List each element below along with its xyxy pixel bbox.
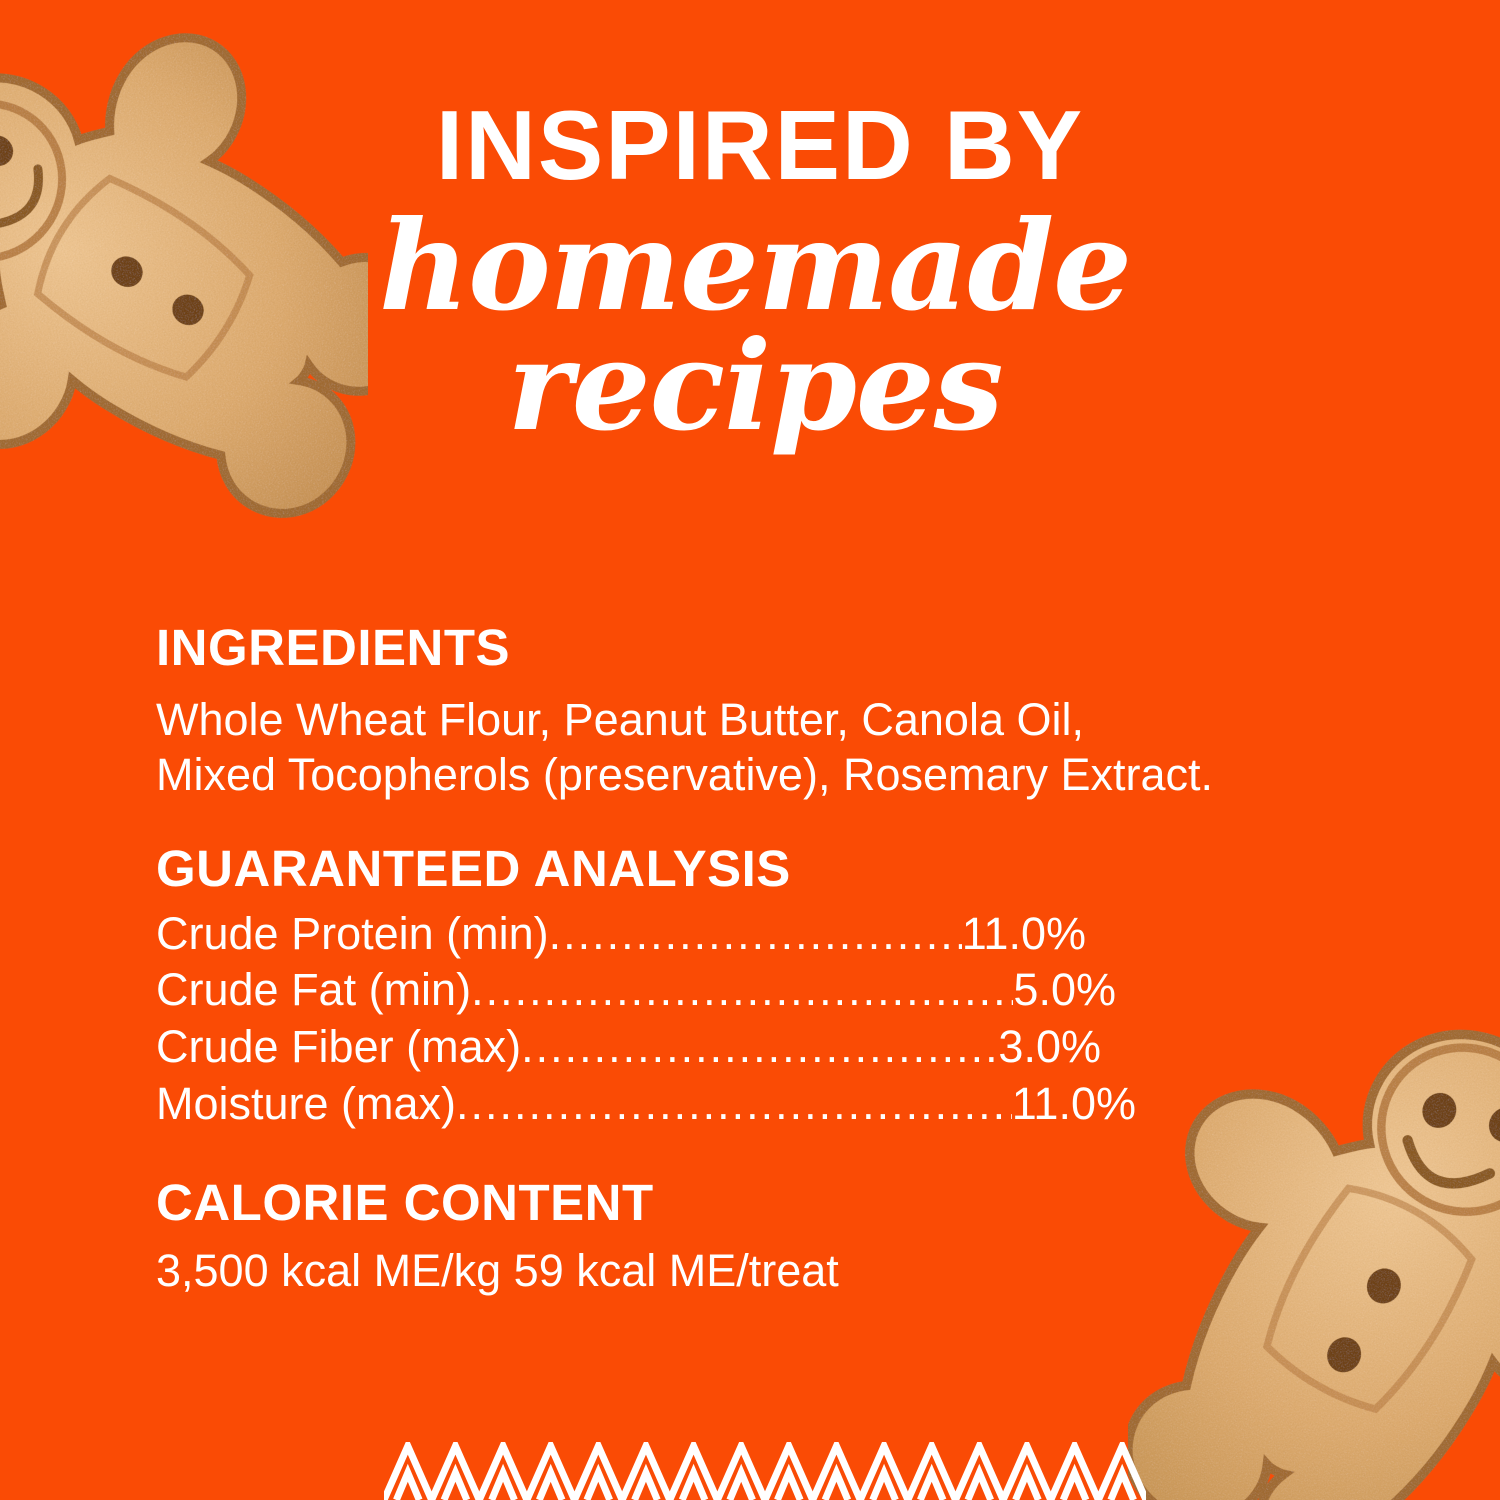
ingredients-line-2: Mixed Tocopherols (preservative), Rosema… <box>156 748 1336 803</box>
headline-script-homemade: homemade <box>0 208 1500 326</box>
analysis-label: Moisture (max) <box>156 1076 456 1133</box>
product-label-panel: INSPIRED BY homemade recipes INGREDIENTS… <box>0 0 1500 1500</box>
analysis-dot-leader: ........................................ <box>521 1019 998 1076</box>
headline-group: INSPIRED BY homemade recipes <box>0 96 1500 446</box>
analysis-label: Crude Protein (min) <box>156 906 549 963</box>
calorie-content-section: CALORIE CONTENT 3,500 kcal ME/kg 59 kcal… <box>156 1177 1336 1299</box>
nutrition-info-panel: INGREDIENTS Whole Wheat Flour, Peanut Bu… <box>156 622 1336 1298</box>
ingredients-section: INGREDIENTS Whole Wheat Flour, Peanut Bu… <box>156 622 1336 803</box>
headline-inspired-by: INSPIRED BY <box>0 96 1500 194</box>
analysis-row-crude-fiber: Crude Fiber (max) ......................… <box>156 1019 1101 1076</box>
guaranteed-analysis-rows: Crude Protein (min) ....................… <box>156 906 1336 1133</box>
analysis-dot-leader: ........................................ <box>471 962 1013 1019</box>
ingredients-heading: INGREDIENTS <box>156 622 1336 673</box>
analysis-value: 11.0% <box>1012 1076 1136 1133</box>
analysis-dot-leader: ........................................ <box>456 1076 1012 1133</box>
analysis-row-crude-protein: Crude Protein (min) ....................… <box>156 906 1086 963</box>
guaranteed-analysis-heading: GUARANTEED ANALYSIS <box>156 843 1336 894</box>
analysis-label: Crude Fiber (max) <box>156 1019 521 1076</box>
analysis-label: Crude Fat (min) <box>156 962 471 1019</box>
calorie-content-heading: CALORIE CONTENT <box>156 1177 1336 1228</box>
guaranteed-analysis-section: GUARANTEED ANALYSIS Crude Protein (min) … <box>156 843 1336 1133</box>
analysis-dot-leader: ........................................ <box>549 906 962 963</box>
calorie-content-value: 3,500 kcal ME/kg 59 kcal ME/treat <box>156 1244 1336 1299</box>
ingredients-line-1: Whole Wheat Flour, Peanut Butter, Canola… <box>156 693 1336 748</box>
headline-script-recipes: recipes <box>0 328 1500 446</box>
triangle-pattern-strip <box>384 1442 1146 1500</box>
analysis-value: 3.0% <box>998 1019 1101 1076</box>
analysis-row-moisture: Moisture (max) .........................… <box>156 1076 1136 1133</box>
analysis-value: 11.0% <box>962 906 1086 963</box>
analysis-value: 5.0% <box>1013 962 1116 1019</box>
analysis-row-crude-fat: Crude Fat (min) ........................… <box>156 962 1116 1019</box>
